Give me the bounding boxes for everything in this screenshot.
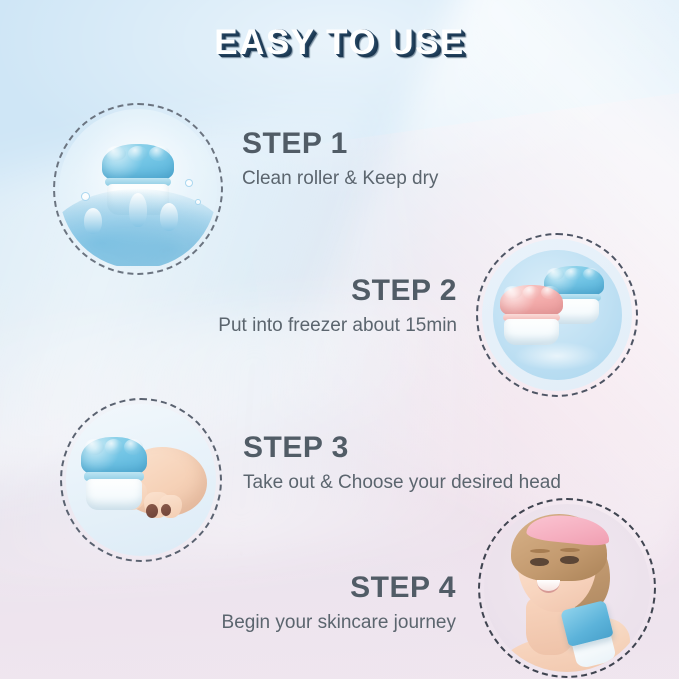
splash-crest-3 <box>160 203 178 231</box>
step-2-image <box>482 239 632 391</box>
roller-head-texture <box>547 268 600 281</box>
step-2-heading: STEP 2 <box>218 275 457 307</box>
step-3-description: Take out & Choose your desired head <box>243 471 561 496</box>
roller-head-blue <box>81 437 147 475</box>
page-title: EASY TO USE <box>0 23 679 63</box>
ice-roller-mould-pink <box>500 285 563 346</box>
ice-roller-product <box>81 437 147 510</box>
step-4-text: STEP 4 Begin your skincare journey <box>222 572 456 635</box>
step-2-highlight <box>515 342 599 369</box>
step-1-description: Clean roller & Keep dry <box>242 167 438 192</box>
roller-base <box>86 479 143 510</box>
splash-crest-1 <box>84 208 102 234</box>
step-2-description: Put into freezer about 15min <box>218 314 457 339</box>
step-1-image-bubble <box>53 103 223 275</box>
easy-to-use-infographic: EASY TO USE STEP 1 Clean <box>0 0 679 679</box>
step-4-image <box>484 504 650 672</box>
fingernail <box>146 504 158 518</box>
roller-head-pink <box>500 285 563 317</box>
roller-head-blue <box>102 144 175 181</box>
step-1-image <box>59 109 217 269</box>
roller-head-texture <box>85 439 143 455</box>
step-4-image-bubble <box>478 498 656 678</box>
water-droplet <box>195 199 201 205</box>
step-3-text: STEP 3 Take out & Choose your desired he… <box>243 432 561 495</box>
step-1-text: STEP 1 Clean roller & Keep dry <box>242 128 438 191</box>
eyebrow-right <box>560 548 580 552</box>
eye-left <box>530 558 548 566</box>
step-3-image <box>66 404 216 556</box>
step-4-description: Begin your skincare journey <box>222 611 456 636</box>
step-4-heading: STEP 4 <box>222 572 456 604</box>
step-1-heading: STEP 1 <box>242 128 438 160</box>
roller-head-texture <box>106 146 170 161</box>
step-3-heading: STEP 3 <box>243 432 561 464</box>
step-2-image-bubble <box>476 233 638 397</box>
splash-crest-2 <box>129 193 147 227</box>
step-3-image-bubble <box>60 398 222 562</box>
roller-head-texture <box>504 286 559 299</box>
step-2-text: STEP 2 Put into freezer about 15min <box>218 275 457 338</box>
